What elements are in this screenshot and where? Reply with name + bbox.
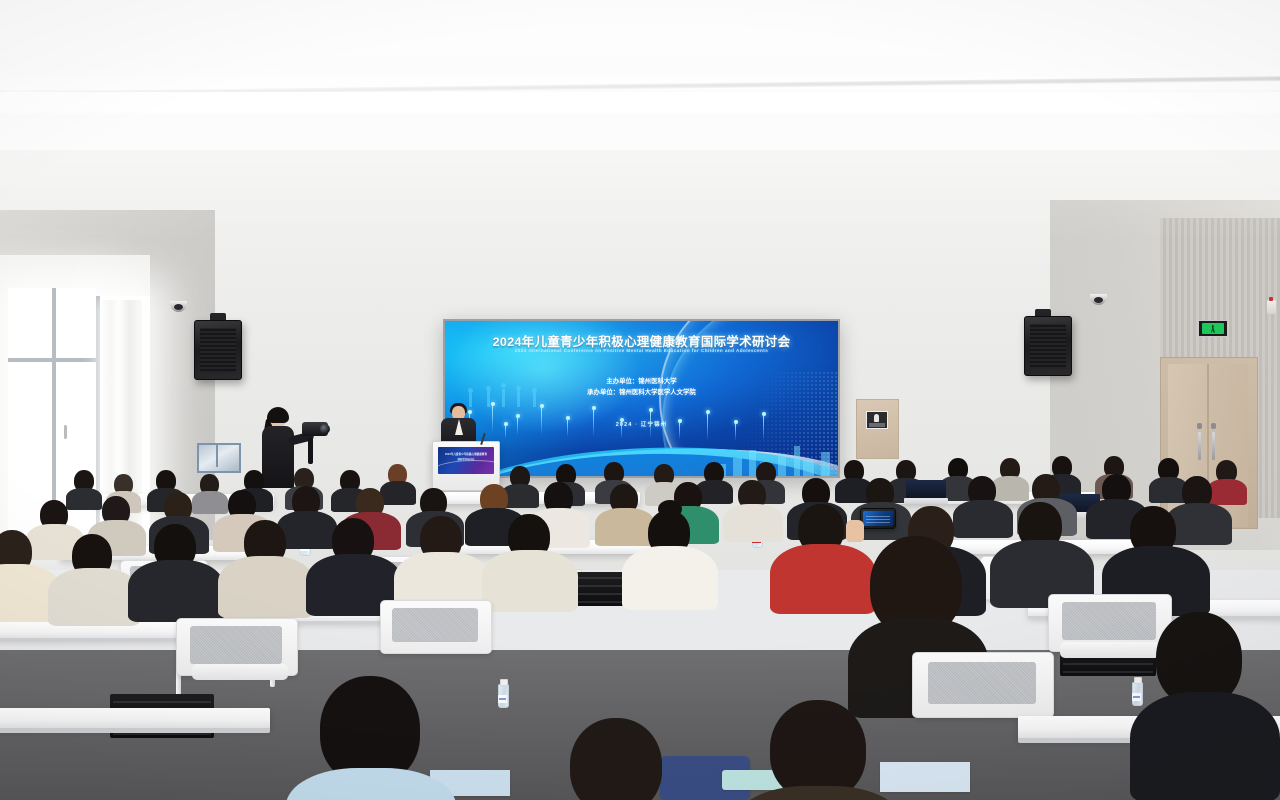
conference-hall-photo: 2024年儿童青少年积极心理健康教育国际学术研讨会 2024 Internati… <box>0 0 1280 800</box>
laptop-screen-1 <box>906 480 946 498</box>
door-handle-right[interactable] <box>1212 432 1215 460</box>
shoulders <box>622 546 718 610</box>
chair-armrest-1 <box>192 664 288 680</box>
chair-mesh-panel <box>190 626 282 664</box>
front-wall-wood-panel <box>856 399 899 459</box>
operator-body <box>262 426 294 488</box>
screen-title-english: 2024 International Conference on Positiv… <box>445 348 838 353</box>
hair-bun <box>658 500 682 518</box>
camera-lens-icon <box>320 424 330 434</box>
shoulders <box>277 511 337 549</box>
document-foreground-right <box>880 762 970 792</box>
city-skyline-1 <box>733 458 742 476</box>
desk-foreground-left <box>0 708 270 729</box>
exit-sign-face <box>1202 323 1224 334</box>
gimbal-handle <box>308 438 313 464</box>
shoulders <box>48 568 140 626</box>
shoulders <box>482 550 578 612</box>
chair-mesh-panel <box>928 662 1036 704</box>
city-skyline-5 <box>794 446 800 476</box>
smartphone-recording[interactable] <box>860 508 896 529</box>
podium-banner-line1: 2024年儿童青少年积极心理健康教育 <box>438 452 494 456</box>
door-lock-left <box>1197 423 1202 429</box>
podium-banner-swoosh <box>438 460 494 474</box>
running-man-icon <box>1211 325 1215 333</box>
door-handle-left[interactable] <box>1198 432 1201 460</box>
restroom-sign <box>866 411 888 429</box>
podium-banner-line2: 国际学术研讨会 <box>438 457 494 461</box>
screen-organizer-line: 主办单位：锦州医科大学 <box>445 376 838 387</box>
city-skyline-6 <box>803 459 814 476</box>
laptop-base-1 <box>904 498 948 504</box>
wall-speaker-right <box>1024 316 1072 376</box>
exit-sign <box>1198 320 1228 337</box>
podium-banner: 2024年儿童青少年积极心理健康教育 国际学术研讨会 <box>438 447 494 474</box>
shoulders <box>1166 503 1232 545</box>
bottle-cap <box>500 679 508 686</box>
door-lock-right <box>1211 423 1216 429</box>
operator-hair <box>267 407 289 423</box>
city-skyline-2 <box>749 450 756 476</box>
city-skyline-4 <box>778 454 786 476</box>
shoulders <box>770 544 876 614</box>
phone-screen <box>863 511 893 526</box>
shoulders <box>192 491 228 514</box>
emergency-device-icon <box>1267 300 1276 314</box>
window-handle <box>64 425 67 439</box>
head <box>570 718 662 800</box>
shoulders <box>595 508 655 546</box>
bottle-label <box>498 695 507 703</box>
wall-speaker-left <box>194 320 242 380</box>
shoulders <box>991 476 1029 501</box>
ceiling-cove-outer <box>0 0 1280 90</box>
screen-organizer-block: 主办单位：锦州医科大学 承办单位：锦州医科大学医学人文学院 <box>445 376 838 398</box>
shoulders <box>128 560 224 622</box>
chair-armrest-2 <box>1060 642 1160 658</box>
wall-picture-left <box>197 443 241 473</box>
shoulders <box>380 481 416 505</box>
window-mullion-horizontal <box>8 358 96 362</box>
led-presentation-screen: 2024年儿童青少年积极心理健康教育国际学术研讨会 2024 Internati… <box>443 319 840 478</box>
shoulders <box>66 488 102 510</box>
chair-mesh-panel <box>1062 602 1156 640</box>
hand-holding-phone <box>846 520 864 542</box>
bottle-cap <box>1134 677 1142 684</box>
screen-host-line: 承办单位：锦州医科大学医学人文学院 <box>445 387 838 398</box>
bottle-label <box>1132 693 1141 701</box>
chair-mesh-panel <box>392 608 478 642</box>
city-skyline-7 <box>821 452 830 476</box>
light-pin-2 <box>492 405 493 433</box>
desk-edge-foreground-left <box>0 728 270 733</box>
screen-place-line: 2024 · 辽宁锦州 <box>445 420 838 428</box>
head <box>770 700 866 800</box>
shoulders <box>723 504 783 542</box>
shoulders <box>1130 692 1280 800</box>
shoulders <box>1207 479 1247 505</box>
light-pin-12 <box>763 415 764 441</box>
shoulders <box>953 500 1013 538</box>
shoulders <box>218 556 314 618</box>
